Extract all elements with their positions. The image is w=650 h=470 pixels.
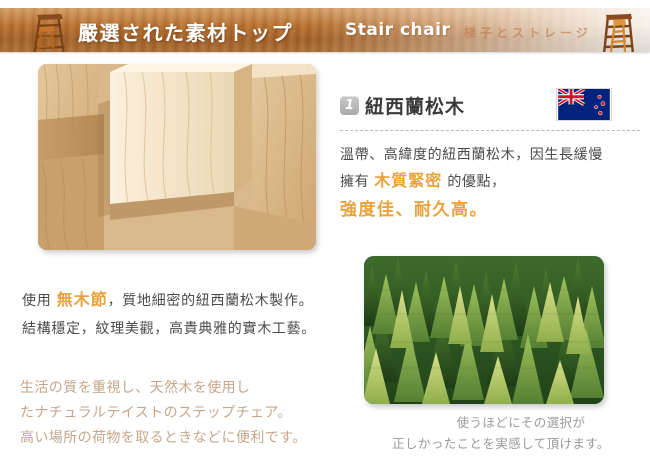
forest-photo: [364, 256, 604, 404]
left-line-1-prefix: 使用: [22, 293, 57, 309]
info-line-2: 擁有 木質緊密 的優點，: [340, 168, 645, 195]
new-zealand-flag-icon: [556, 88, 612, 121]
left-line-1: 使用 無木節，質地細密的紐西蘭松木製作。: [22, 286, 342, 315]
info-line-2-suffix: 的優點，: [442, 174, 505, 190]
banner-subtitle-en: Stair chair: [345, 20, 450, 40]
info-header: 1 紐西蘭松木: [340, 92, 640, 126]
forest-caption-line-1: 使うほどにその選択が: [358, 412, 644, 433]
japanese-description: 生活の質を重視し、天然木を使用し たナチュラルテイストのステップチェア。 高い場…: [20, 376, 350, 451]
ladder-chair-icon-left: [24, 8, 72, 52]
jp-line-2: たナチュラルテイストのステップチェア。: [20, 401, 350, 426]
left-line-2: 結構穩定，紋理美觀，高貴典雅的實木工藝。: [22, 315, 342, 343]
forest-caption-line-2: 正しかったことを実感して頂けます。: [358, 433, 644, 454]
step-number-badge: 1: [340, 96, 359, 115]
info-line-2-prefix: 擁有: [340, 174, 374, 190]
section-divider: [340, 130, 640, 131]
forest-caption: 使うほどにその選択が 正しかったことを実感して頂けます。: [358, 412, 644, 454]
header-banner: 嚴選された素材トップ Stair chair 梯子とストレージ: [0, 8, 650, 52]
info-title: 紐西蘭松木: [365, 92, 465, 119]
banner-title: 嚴選された素材トップ: [78, 17, 293, 46]
wood-beams-photo: [38, 64, 316, 250]
info-emphasis: 強度佳、耐久高。: [340, 195, 645, 225]
info-line-1: 溫帶、高緯度的紐西蘭松木，因生長緩慢: [340, 142, 645, 168]
jp-line-3: 高い場所の荷物を取るときなどに便利です。: [20, 426, 350, 451]
info-body: 溫帶、高緯度的紐西蘭松木，因生長緩慢 擁有 木質緊密 的優點， 強度佳、耐久高。: [340, 142, 645, 225]
ladder-chair-icon-right: [596, 8, 640, 52]
banner-subtitle-jp: 梯子とストレージ: [464, 24, 592, 41]
left-line-1-highlight: 無木節: [57, 290, 108, 309]
left-line-1-suffix: ，質地細密的紐西蘭松木製作。: [108, 293, 314, 309]
product-info-card: 嚴選された素材トップ Stair chair 梯子とストレージ: [0, 0, 650, 470]
info-line-2-highlight: 木質緊密: [374, 171, 442, 190]
jp-line-1: 生活の質を重視し、天然木を使用し: [20, 376, 350, 401]
left-description: 使用 無木節，質地細密的紐西蘭松木製作。 結構穩定，紋理美觀，高貴典雅的實木工藝…: [22, 286, 342, 343]
